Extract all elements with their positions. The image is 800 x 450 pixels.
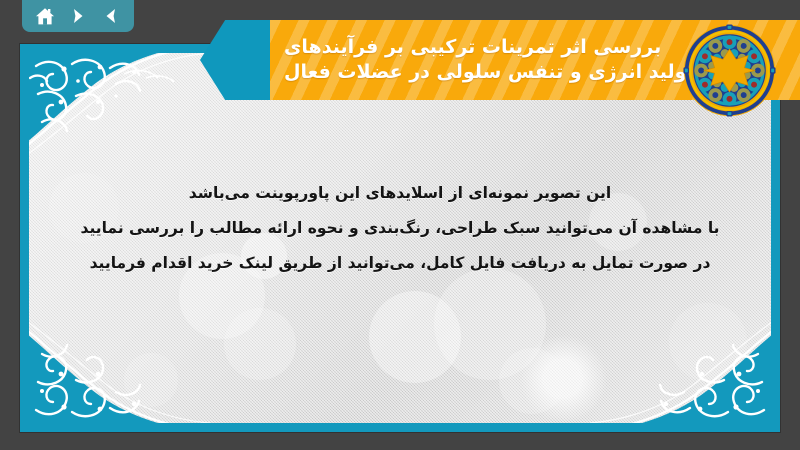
- bokeh-circle: [669, 303, 747, 381]
- triangle-right-icon: [69, 7, 87, 25]
- forward-button[interactable]: [65, 4, 91, 28]
- corner-ornament-bottom-left: [29, 318, 210, 423]
- persian-rosette-medallion-icon: [683, 24, 776, 117]
- home-icon: [35, 7, 55, 26]
- bokeh-circle: [124, 353, 178, 407]
- navigation-toolbar: [22, 0, 134, 32]
- slide-canvas: این تصویر نمونه‌ای از اسلایدهای این پاور…: [29, 53, 771, 423]
- body-line-3: در صورت تمایل به دریافت فایل کامل، می‌تو…: [69, 251, 731, 275]
- corner-ornament-bottom-right: [590, 318, 771, 423]
- bokeh-circle: [369, 291, 461, 383]
- bokeh-circle: [499, 348, 565, 414]
- body-line-1: این تصویر نمونه‌ای از اسلایدهای این پاور…: [69, 181, 731, 205]
- slide-frame: این تصویر نمونه‌ای از اسلایدهای این پاور…: [20, 44, 780, 432]
- chevron-left-pointer-icon: [200, 20, 274, 100]
- title-banner: بررسی اثر تمرینات ترکیبی بر فرآیندهای تو…: [200, 20, 800, 100]
- slide-title-line-1: بررسی اثر تمرینات ترکیبی بر فرآیندهای: [284, 35, 661, 60]
- back-button[interactable]: [98, 4, 124, 28]
- slide-body-text: این تصویر نمونه‌ای از اسلایدهای این پاور…: [69, 181, 731, 287]
- triangle-left-icon: [102, 7, 120, 25]
- home-button[interactable]: [32, 4, 58, 28]
- body-line-2: با مشاهده آن می‌توانید سبک طراحی، رنگ‌بن…: [69, 216, 731, 240]
- slide-title-line-2: تولید انرژی و تنفس سلولی در عضلات فعال: [284, 60, 694, 85]
- bokeh-circle: [224, 308, 296, 380]
- corner-ornament-top-left: [29, 53, 210, 158]
